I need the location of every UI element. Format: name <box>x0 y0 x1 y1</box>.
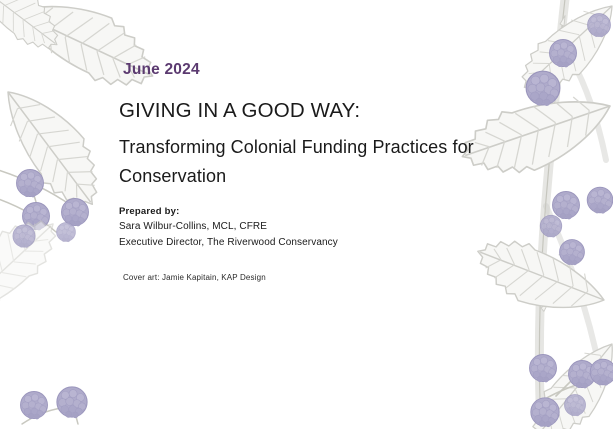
credits-block: Prepared by: Sara Wilbur-Collins, MCL, C… <box>119 204 519 251</box>
cover-page: June 2024 GIVING IN A GOOD WAY: Transfor… <box>0 0 613 429</box>
page-subtitle: Transforming Colonial Funding Practices … <box>119 133 501 191</box>
author-name: Sara Wilbur-Collins, MCL, CFRE <box>119 219 519 235</box>
author-title: Executive Director, The Riverwood Conser… <box>119 235 519 251</box>
publication-date: June 2024 <box>123 61 200 79</box>
prepared-by-label: Prepared by: <box>119 204 519 219</box>
cover-text-block: June 2024 GIVING IN A GOOD WAY: Transfor… <box>119 0 559 429</box>
cover-art-credit: Cover art: Jamie Kapitain, KAP Design <box>123 273 266 282</box>
page-title: GIVING IN A GOOD WAY: <box>119 99 360 123</box>
